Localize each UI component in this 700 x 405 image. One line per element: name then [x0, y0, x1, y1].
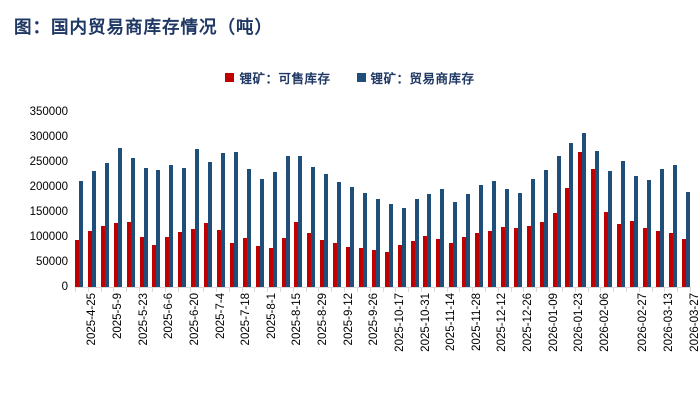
bar-trader-inventory[interactable]	[389, 204, 393, 287]
bar-trader-inventory[interactable]	[182, 168, 186, 287]
bar-group[interactable]	[127, 112, 135, 287]
y-axis-tick-label: 50000	[36, 256, 68, 268]
x-axis-tick	[306, 287, 307, 292]
bar-group[interactable]	[578, 112, 586, 287]
bar-trader-inventory[interactable]	[518, 193, 522, 287]
x-axis-tick	[101, 287, 102, 292]
x-axis-tick-label: 2025-12-12	[496, 293, 508, 352]
legend-item-trader-inventory[interactable]: 锂矿：贸易商库存	[357, 68, 475, 87]
bar-trader-inventory[interactable]	[260, 179, 264, 287]
x-axis-tick	[639, 287, 640, 292]
x-axis-tick	[75, 287, 76, 292]
x-axis-tick	[434, 287, 435, 292]
bar-trader-inventory[interactable]	[582, 133, 586, 287]
bar-group[interactable]	[669, 112, 677, 287]
y-axis-tick-label: 250000	[30, 156, 68, 168]
bar-group[interactable]	[320, 112, 328, 287]
x-axis-tick	[229, 287, 230, 292]
x-axis-tick	[139, 287, 140, 292]
chart-legend: 锂矿：可售库存 锂矿：贸易商库存	[0, 68, 700, 87]
bar-group[interactable]	[88, 112, 96, 287]
bar-trader-inventory[interactable]	[156, 170, 160, 287]
bar-group[interactable]	[140, 112, 148, 287]
y-axis-tick-label: 100000	[30, 231, 68, 243]
x-axis-tick	[190, 287, 191, 292]
bar-trader-inventory[interactable]	[608, 171, 612, 287]
bar-group[interactable]	[152, 112, 160, 287]
bar-group[interactable]	[346, 112, 354, 287]
bar-group[interactable]	[256, 112, 264, 287]
x-axis-tick	[459, 287, 460, 292]
x-axis-tick-label: 2026-03-13	[663, 293, 675, 352]
bar-trader-inventory[interactable]	[595, 151, 599, 287]
bar-trader-inventory[interactable]	[221, 153, 225, 287]
x-axis-tick	[280, 287, 281, 292]
x-axis-tick-label: 2026-02-06	[599, 293, 611, 352]
x-axis-tick	[357, 287, 358, 292]
bar-group[interactable]	[75, 112, 83, 287]
x-axis-tick	[370, 287, 371, 292]
bar-group[interactable]	[540, 112, 548, 287]
x-axis-tick-label: 2025-8-29	[317, 293, 329, 345]
bar-group[interactable]	[282, 112, 290, 287]
x-axis-tick	[408, 287, 409, 292]
bar-group[interactable]	[372, 112, 380, 287]
bar-group[interactable]	[178, 112, 186, 287]
bar-group[interactable]	[604, 112, 612, 287]
x-axis-tick-label: 2025-4-25	[86, 293, 98, 345]
x-axis-tick-label: 2025-7-18	[240, 293, 252, 345]
x-axis-tick	[331, 287, 332, 292]
x-axis-tick	[254, 287, 255, 292]
bar-group[interactable]	[333, 112, 341, 287]
bar-trader-inventory[interactable]	[208, 162, 212, 287]
x-axis-tick	[613, 287, 614, 292]
bar-group[interactable]	[630, 112, 638, 287]
bar-trader-inventory[interactable]	[479, 185, 483, 287]
x-axis-tick	[600, 287, 601, 292]
x-axis-tick	[677, 287, 678, 292]
bar-trader-inventory[interactable]	[118, 148, 122, 287]
legend-label: 锂矿：贸易商库存	[371, 68, 475, 87]
bar-group[interactable]	[591, 112, 599, 287]
x-axis-tick-label: 2026-01-23	[573, 293, 585, 352]
y-axis-tick-label: 200000	[30, 181, 68, 193]
y-axis-tick-label: 150000	[30, 206, 68, 218]
bar-group[interactable]	[423, 112, 431, 287]
bar-trader-inventory[interactable]	[505, 189, 509, 287]
bar-group[interactable]	[462, 112, 470, 287]
x-axis-tick	[511, 287, 512, 292]
bar-group[interactable]	[230, 112, 238, 287]
x-axis-tick-label: 2025-5-23	[138, 293, 150, 345]
bar-group[interactable]	[114, 112, 122, 287]
x-axis-tick	[523, 287, 524, 292]
bar-group[interactable]	[488, 112, 496, 287]
x-axis-tick	[421, 287, 422, 292]
x-axis-tick	[575, 287, 576, 292]
x-axis-tick-label: 2025-11-28	[471, 293, 483, 351]
x-axis-tick	[447, 287, 448, 292]
bar-group[interactable]	[359, 112, 367, 287]
x-axis-tick	[395, 287, 396, 292]
x-axis-tick-label: 2025-10-31	[420, 293, 432, 352]
y-axis-tick-label: 350000	[30, 106, 68, 118]
y-axis: 0500001000001500002000002500003000003500…	[0, 0, 68, 405]
x-axis-tick	[472, 287, 473, 292]
bar-trader-inventory[interactable]	[131, 158, 135, 287]
bar-trader-inventory[interactable]	[298, 156, 302, 287]
x-axis-tick-label: 2025-6-6	[163, 293, 175, 339]
bar-group[interactable]	[294, 112, 302, 287]
square-marker-icon	[225, 73, 234, 82]
x-axis-labels: 2025-4-252025-5-92025-5-232025-6-62025-6…	[75, 293, 690, 403]
chart-container: 图：国内贸易商库存情况（吨） 锂矿：可售库存 锂矿：贸易商库存 05000010…	[0, 0, 700, 405]
plot-area	[75, 112, 690, 287]
x-axis-tick-label: 2025-12-26	[522, 293, 534, 352]
x-axis-tick	[485, 287, 486, 292]
y-axis-tick-label: 300000	[30, 131, 68, 143]
bar-trader-inventory[interactable]	[531, 179, 535, 287]
bar-trader-inventory[interactable]	[144, 168, 148, 287]
bar-trader-inventory[interactable]	[234, 152, 238, 287]
x-axis-tick	[318, 287, 319, 292]
x-axis-tick-label: 2025-5-9	[112, 293, 124, 339]
x-axis-tick	[498, 287, 499, 292]
bar-trader-inventory[interactable]	[647, 180, 651, 287]
bar-trader-inventory[interactable]	[466, 194, 470, 287]
x-axis-tick	[165, 287, 166, 292]
bar-group[interactable]	[165, 112, 173, 287]
bar-trader-inventory[interactable]	[440, 189, 444, 287]
y-axis-tick-label: 0	[62, 281, 68, 293]
bar-group[interactable]	[191, 112, 199, 287]
x-axis-tick	[113, 287, 114, 292]
x-axis-tick	[293, 287, 294, 292]
legend-item-sellable-inventory[interactable]: 锂矿：可售库存	[225, 68, 330, 87]
x-axis-tick-label: 2026-03-27	[689, 293, 700, 352]
bar-trader-inventory[interactable]	[324, 174, 328, 287]
bar-trader-inventory[interactable]	[169, 165, 173, 287]
bar-trader-inventory[interactable]	[634, 176, 638, 287]
x-axis-tick-label: 2025-9-12	[343, 293, 355, 345]
bar-group[interactable]	[617, 112, 625, 287]
bar-trader-inventory[interactable]	[311, 167, 315, 287]
x-axis-tick-label: 2025-9-26	[368, 293, 380, 345]
bar-group[interactable]	[553, 112, 561, 287]
x-axis-tick	[267, 287, 268, 292]
bar-trader-inventory[interactable]	[376, 199, 380, 287]
x-axis-tick	[383, 287, 384, 292]
x-axis-tick-label: 2026-02-27	[637, 293, 649, 352]
bar-group[interactable]	[436, 112, 444, 287]
x-axis-tick-label: 2025-7-4	[215, 293, 227, 339]
bar-series-group	[75, 112, 690, 287]
bar-group[interactable]	[501, 112, 509, 287]
bar-trader-inventory[interactable]	[427, 194, 431, 287]
bar-trader-inventory[interactable]	[273, 172, 277, 287]
bar-trader-inventory[interactable]	[337, 182, 341, 287]
x-axis-tick-label: 2025-8-15	[291, 293, 303, 345]
x-axis-tick	[126, 287, 127, 292]
x-axis-tick	[152, 287, 153, 292]
bar-group[interactable]	[269, 112, 277, 287]
bar-trader-inventory[interactable]	[92, 171, 96, 287]
x-axis-tick-label: 2025-8-1	[266, 293, 278, 339]
x-axis-tick	[344, 287, 345, 292]
bar-group[interactable]	[243, 112, 251, 287]
bar-trader-inventory[interactable]	[544, 170, 548, 287]
x-axis-tick	[664, 287, 665, 292]
bar-trader-inventory[interactable]	[660, 169, 664, 287]
bar-group[interactable]	[398, 112, 406, 287]
x-axis-tick-label: 2025-10-17	[394, 293, 406, 352]
x-axis-tick	[178, 287, 179, 292]
bar-trader-inventory[interactable]	[569, 143, 573, 287]
bar-group[interactable]	[101, 112, 109, 287]
bar-trader-inventory[interactable]	[195, 149, 199, 287]
legend-label: 锂矿：可售库存	[239, 68, 330, 87]
x-axis-tick	[536, 287, 537, 292]
x-axis-tick-label: 2026-01-09	[548, 293, 560, 352]
bar-trader-inventory[interactable]	[492, 181, 496, 287]
x-axis-tick	[652, 287, 653, 292]
bar-group[interactable]	[217, 112, 225, 287]
x-axis-tick	[549, 287, 550, 292]
x-axis-tick	[88, 287, 89, 292]
x-axis-tick	[216, 287, 217, 292]
bar-group[interactable]	[643, 112, 651, 287]
bar-trader-inventory[interactable]	[247, 169, 251, 287]
bar-group[interactable]	[411, 112, 419, 287]
x-axis-tick	[588, 287, 589, 292]
bar-group[interactable]	[514, 112, 522, 287]
bar-trader-inventory[interactable]	[105, 163, 109, 287]
bar-trader-inventory[interactable]	[415, 199, 419, 287]
bar-trader-inventory[interactable]	[79, 181, 83, 287]
x-axis-ticks	[75, 287, 690, 292]
bar-trader-inventory[interactable]	[350, 187, 354, 287]
bar-trader-inventory[interactable]	[286, 156, 290, 287]
x-axis-tick	[562, 287, 563, 292]
bar-trader-inventory[interactable]	[673, 165, 677, 287]
bar-group[interactable]	[656, 112, 664, 287]
bar-trader-inventory[interactable]	[453, 202, 457, 287]
bar-trader-inventory[interactable]	[363, 193, 367, 287]
x-axis-tick	[203, 287, 204, 292]
bar-trader-inventory[interactable]	[402, 208, 406, 287]
bar-group[interactable]	[307, 112, 315, 287]
bar-group[interactable]	[204, 112, 212, 287]
bar-group[interactable]	[449, 112, 457, 287]
x-axis-tick	[626, 287, 627, 292]
x-axis-tick	[242, 287, 243, 292]
bar-trader-inventory[interactable]	[557, 156, 561, 287]
bar-group[interactable]	[475, 112, 483, 287]
square-marker-icon	[357, 73, 366, 82]
bar-group[interactable]	[565, 112, 573, 287]
bar-group[interactable]	[527, 112, 535, 287]
x-axis-tick	[690, 287, 691, 292]
x-axis-tick-label: 2025-11-14	[445, 293, 457, 351]
bar-trader-inventory[interactable]	[621, 161, 625, 287]
bar-group[interactable]	[385, 112, 393, 287]
bar-group[interactable]	[682, 112, 690, 287]
x-axis-tick-label: 2025-6-20	[189, 293, 201, 345]
bar-trader-inventory[interactable]	[686, 192, 690, 287]
